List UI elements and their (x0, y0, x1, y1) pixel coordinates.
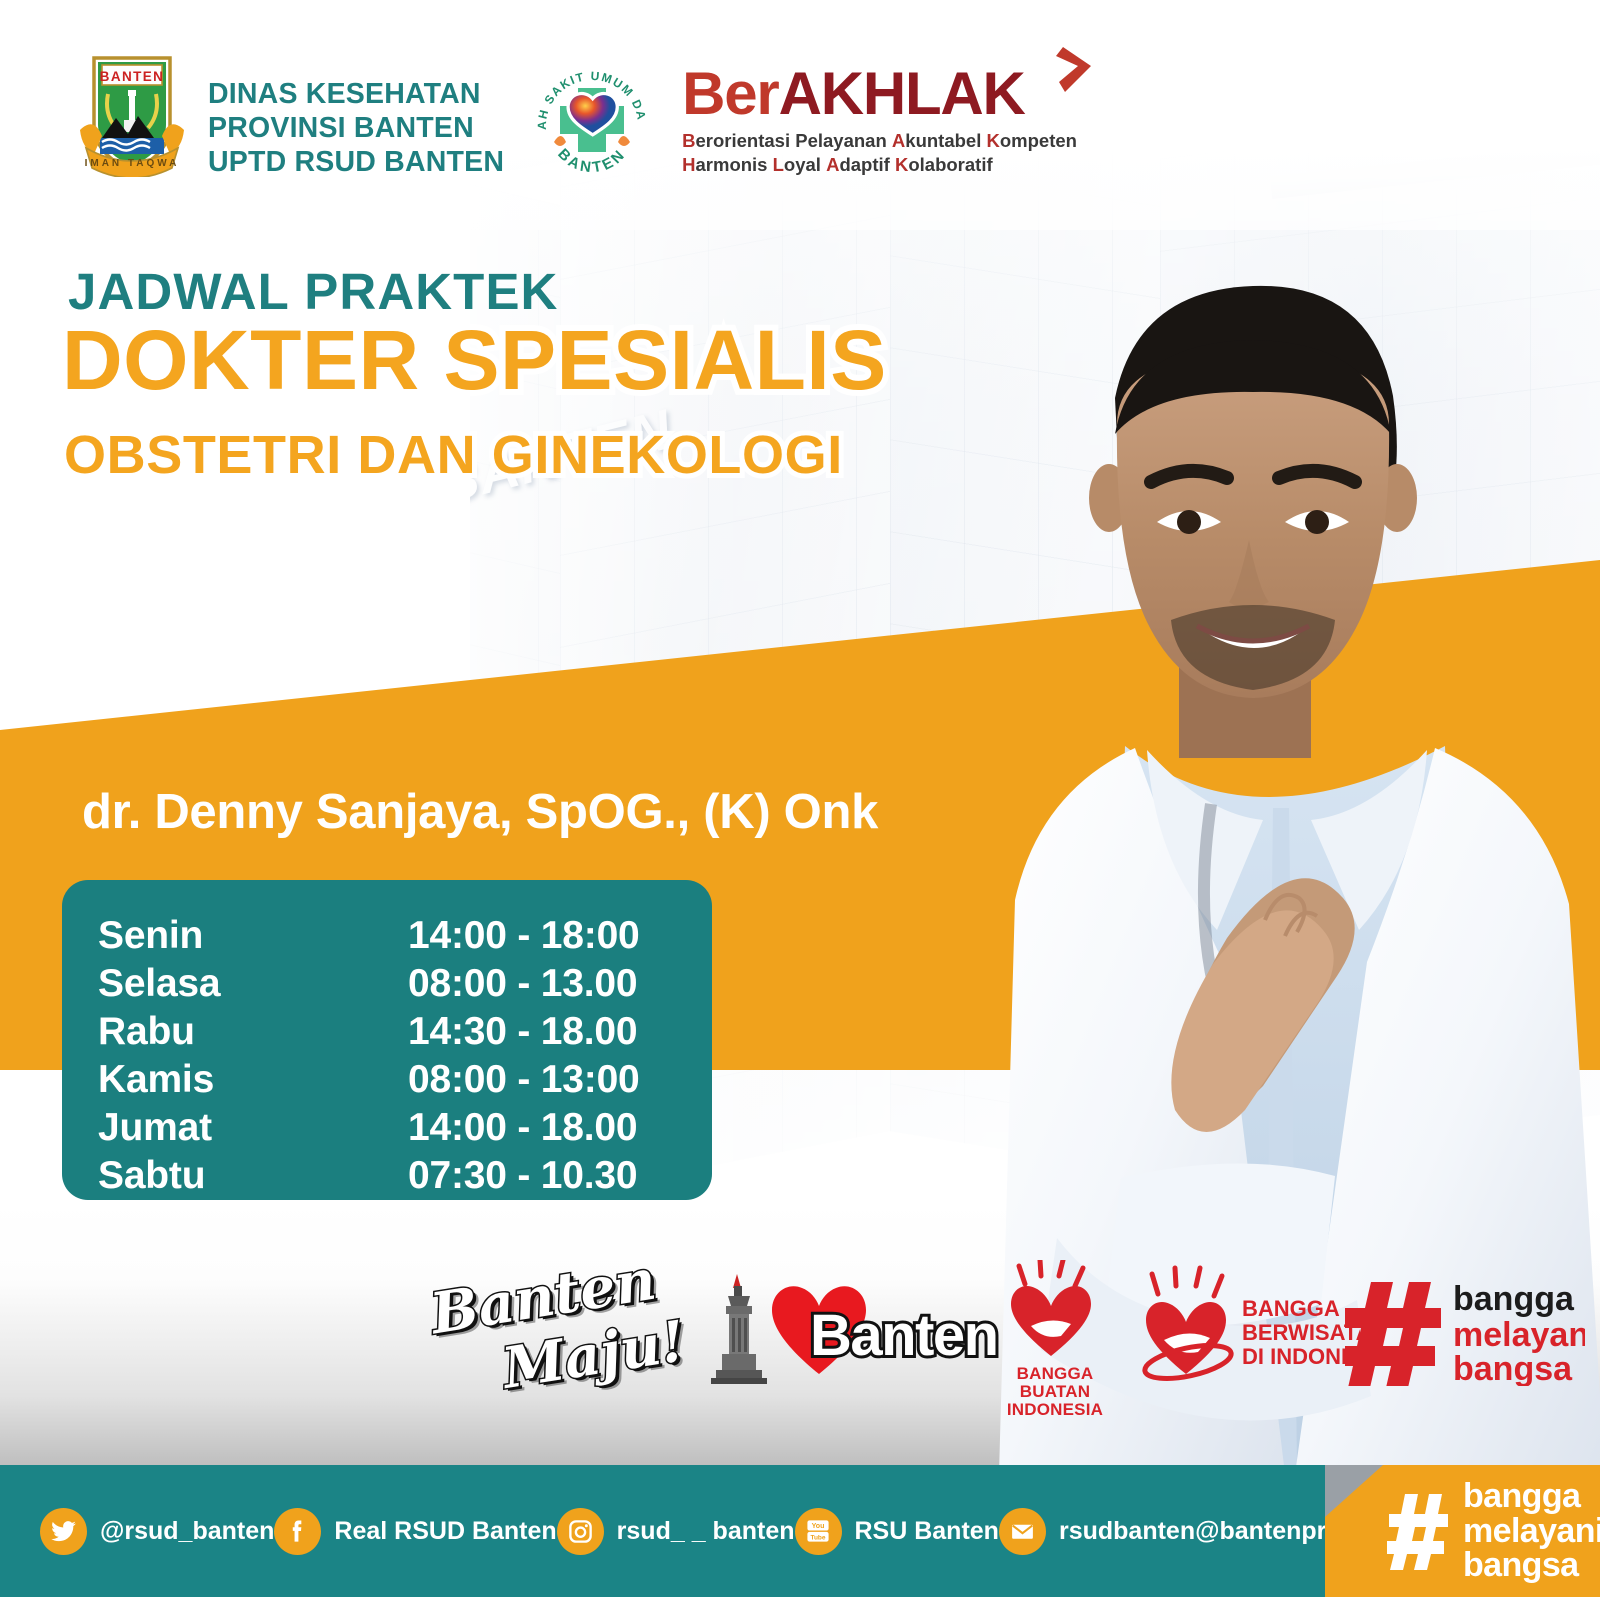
bmb-red-icon: bangga melayani bangsa (1345, 1274, 1585, 1386)
svg-text:Tube: Tube (810, 1534, 825, 1541)
bbdi-icon: BANGGA BERWISATA DI INDONESIA (1130, 1260, 1360, 1402)
schedule-time: 08:00 - 13.00 (408, 962, 637, 1006)
svg-text:BERWISATA: BERWISATA (1242, 1320, 1360, 1345)
social-label-facebook: Real RSUD Banten (334, 1517, 556, 1546)
youtube-icon: You Tube (795, 1508, 842, 1555)
organization-name: DINAS KESEHATAN PROVINSI BANTEN UPTD RSU… (208, 78, 504, 180)
svg-text:melayani: melayani (1453, 1316, 1585, 1354)
table-row: Sabtu 07:30 - 10.30 (62, 1154, 712, 1202)
bangga-melayani-bangsa-red-logo: bangga melayani bangsa (1345, 1274, 1585, 1386)
social-item-twitter[interactable]: @rsud_banten (40, 1508, 274, 1555)
social-item-facebook[interactable]: Real RSUD Banten (274, 1508, 556, 1555)
facebook-icon (274, 1508, 321, 1555)
schedule-day: Selasa (98, 962, 408, 1006)
schedule-card: Senin 14:00 - 18:00 Selasa 08:00 - 13.00… (62, 880, 712, 1200)
schedule-day: Kamis (98, 1058, 408, 1102)
twitter-icon (40, 1508, 87, 1555)
bbi-caption-line1: BANGGA BUATAN (985, 1365, 1125, 1401)
svg-text:BANGGA: BANGGA (1242, 1296, 1340, 1321)
svg-text:bangsa: bangsa (1453, 1350, 1573, 1386)
email-icon (999, 1508, 1046, 1555)
schedule-day: Senin (98, 914, 408, 958)
svg-text:IMAN TAQWA: IMAN TAQWA (85, 158, 180, 169)
svg-text:DI INDONESIA: DI INDONESIA (1242, 1344, 1360, 1369)
schedule-time: 14:00 - 18:00 (408, 914, 640, 958)
table-row: Senin 14:00 - 18:00 (62, 914, 712, 962)
schedule-time: 14:30 - 18.00 (408, 1010, 637, 1054)
berakhlak-tagline-line2: Harmonis Loyal Adaptif Kolaboratif (682, 153, 1077, 177)
love-banten-word: Banten (810, 1302, 998, 1369)
rsud-banten-logo-icon: RUMAH SAKIT UMUM DAERAH BANTEN (532, 56, 652, 180)
banten-provincial-emblem-icon: BANTEN IMAN TAQWA (78, 52, 186, 177)
banten-maju-logo: Banten Maju! (424, 1258, 674, 1398)
social-item-youtube[interactable]: You Tube RSU Banten (795, 1508, 999, 1555)
poster-root: UPT RSUD BANTEN BANTEN IMAN TAQWA DINAS … (0, 0, 1600, 1597)
schedule-time: 07:30 - 10.30 (408, 1154, 637, 1198)
org-line-1: DINAS KESEHATAN (208, 78, 504, 112)
berakhlak-title: BerAKHLAK (682, 66, 1077, 122)
badge-line-2: melayani (1463, 1514, 1600, 1549)
schedule-time: 14:00 - 18.00 (408, 1106, 637, 1150)
org-line-3: UPTD RSUD BANTEN (208, 146, 504, 180)
poster-header: BANTEN IMAN TAQWA DINAS KESEHATAN PROVIN… (0, 52, 1600, 197)
bangga-buatan-indonesia-logo: BANGGA BUATAN INDONESIA (985, 1260, 1125, 1402)
bbi-caption-line2: INDONESIA (985, 1401, 1125, 1419)
svg-text:bangga: bangga (1453, 1280, 1575, 1318)
badge-line-1: bangga (1463, 1479, 1600, 1514)
love-banten-logo: Banten (700, 1262, 970, 1392)
instagram-icon (557, 1508, 604, 1555)
table-row: Jumat 14:00 - 18.00 (62, 1106, 712, 1154)
berakhlak-title-part2: AKHLAK (779, 60, 1025, 127)
hashtag-icon (1387, 1492, 1449, 1570)
schedule-day: Sabtu (98, 1154, 408, 1198)
org-line-2: PROVINSI BANTEN (208, 112, 504, 146)
svg-text:You: You (812, 1523, 825, 1530)
lighthouse-icon (708, 1274, 770, 1384)
bbi-heart-icon (985, 1260, 1125, 1360)
schedule-day: Rabu (98, 1010, 408, 1054)
title-subtitle: OBSTETRI DAN GINEKOLOGI (64, 424, 843, 486)
social-links: @rsud_banten Real RSUD Banten rsud_ _ ba… (0, 1465, 1330, 1597)
schedule-day: Jumat (98, 1106, 408, 1150)
doctor-name: dr. Denny Sanjaya, SpOG., (K) Onk (82, 784, 878, 840)
table-row: Selasa 08:00 - 13.00 (62, 962, 712, 1010)
svg-text:BANTEN: BANTEN (100, 69, 165, 84)
social-item-instagram[interactable]: rsud_ _ banten (557, 1508, 795, 1555)
berakhlak-tagline-line1: Berorientasi Pelayanan Akuntabel Kompete… (682, 129, 1077, 153)
berakhlak-logo: BerAKHLAK Berorientasi Pelayanan Akuntab… (682, 66, 1077, 177)
bangga-melayani-bangsa-badge: bangga melayani bangsa (1325, 1465, 1600, 1597)
social-label-youtube: RSU Banten (855, 1517, 999, 1546)
bangga-berwisata-indonesia-logo: BANGGA BERWISATA DI INDONESIA (1130, 1260, 1360, 1402)
badge-line-3: bangsa (1463, 1548, 1600, 1583)
partner-logo-strip: Banten Maju! Banten (0, 1252, 1600, 1412)
social-label-twitter: @rsud_banten (100, 1517, 274, 1546)
table-row: Rabu 14:30 - 18.00 (62, 1010, 712, 1058)
schedule-time: 08:00 - 13:00 (408, 1058, 640, 1102)
badge-text: bangga melayani bangsa (1463, 1479, 1600, 1583)
social-label-instagram: rsud_ _ banten (617, 1517, 795, 1546)
table-row: Kamis 08:00 - 13:00 (62, 1058, 712, 1106)
chevron-right-icon (1047, 42, 1103, 98)
berakhlak-title-part1: Ber (682, 60, 778, 127)
berakhlak-tagline: Berorientasi Pelayanan Akuntabel Kompete… (682, 129, 1077, 176)
bbi-caption: BANGGA BUATAN INDONESIA (985, 1365, 1125, 1419)
page-title: DOKTER SPESIALIS (62, 318, 887, 404)
